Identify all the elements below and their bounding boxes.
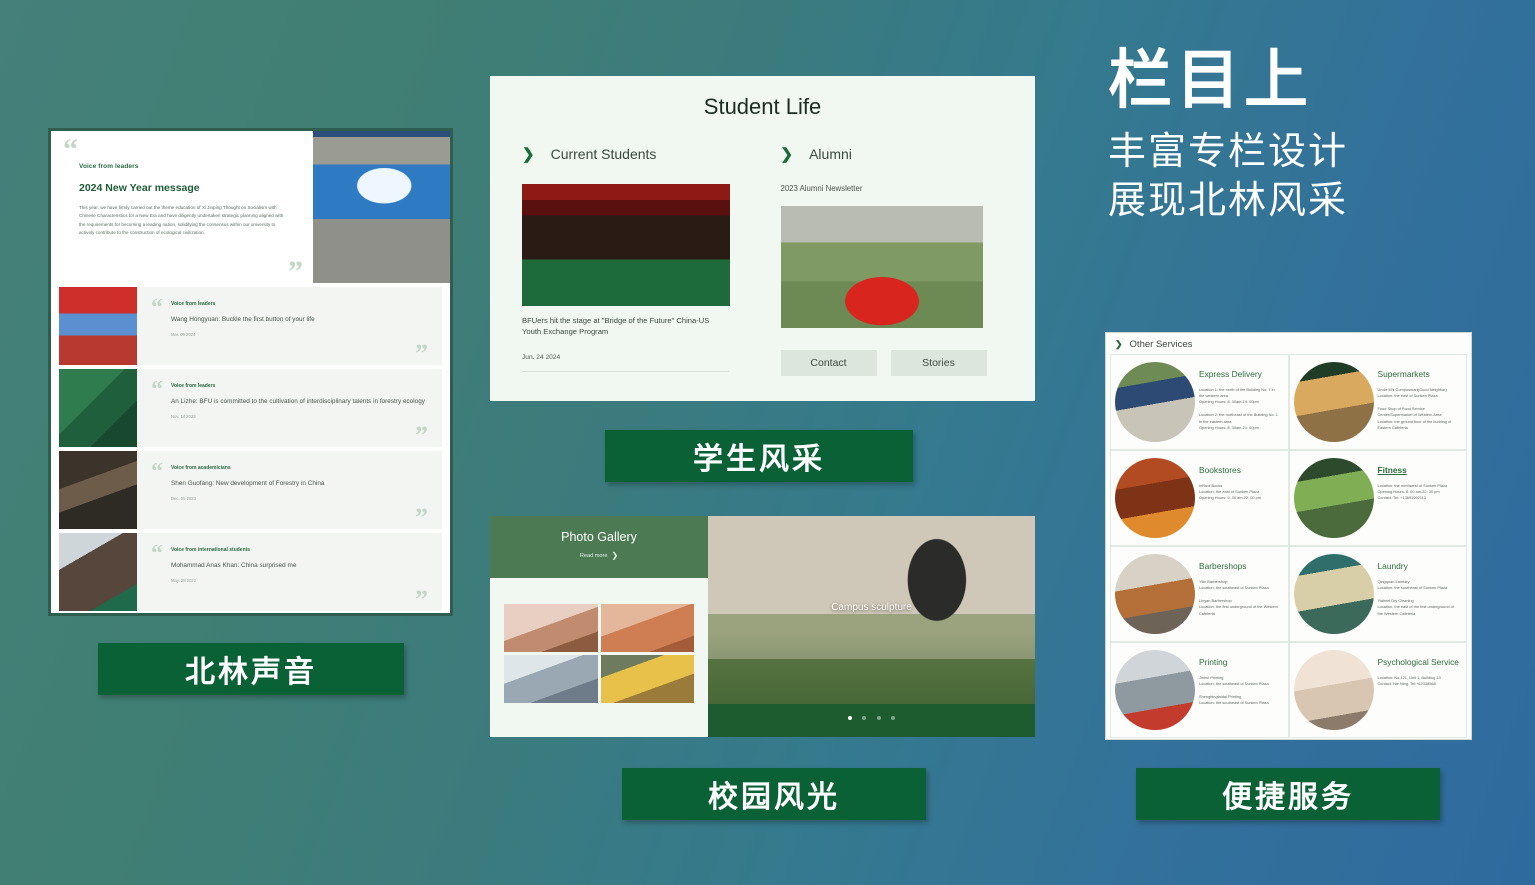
current-students-date: Jun. 24 2024 [522, 354, 745, 361]
other-services-header[interactable]: ❯ Other Services [1106, 333, 1471, 354]
service-title[interactable]: Psychological Service [1378, 657, 1460, 668]
banner-student-life: 学生风采 [605, 430, 913, 482]
quote-close-icon: ” [415, 591, 428, 609]
alumni-label: Alumni [809, 146, 852, 162]
voice-item-text: “ ” Voice from leaders Wang Hongyuan: Bu… [137, 287, 442, 365]
service-thumb [1115, 458, 1195, 538]
list-item[interactable]: “ ” Voice from academicians Shen Guofang… [59, 451, 442, 529]
headline-sub-line1: 丰富专栏设计 [1108, 127, 1528, 176]
feature-caption: Campus sculpture [708, 602, 1035, 613]
list-item[interactable]: “ ” Voice from international students Mo… [59, 533, 442, 611]
photo-gallery-title: Photo Gallery [490, 530, 708, 544]
gallery-thumb[interactable] [504, 655, 598, 703]
banner-voice-of-bfu: 北林声音 [98, 643, 404, 695]
service-title[interactable]: Printing [1199, 657, 1281, 668]
voice-item-text: “ ” Voice from international students Mo… [137, 533, 442, 611]
carousel-dot[interactable] [848, 716, 852, 720]
other-services-panel: ❯ Other Services Express Delivery Locati… [1105, 332, 1472, 740]
alumni-link[interactable]: ❯ Alumni [781, 146, 1004, 162]
divider [522, 371, 729, 372]
service-card-psychological-service[interactable]: Psychological Service Location: No.121, … [1289, 642, 1468, 738]
voice-hero-kicker: Voice from leaders [79, 163, 297, 170]
voice-item-text: “ ” Voice from leaders An Lizhe: BFU is … [137, 369, 442, 447]
service-title[interactable]: Barbershops [1199, 561, 1281, 572]
voice-hero-body: This year, we have firmly carried out th… [79, 204, 289, 238]
service-desc: Qingquan Laundry Location: the southeast… [1378, 579, 1460, 618]
headline-main: 栏目上 [1108, 48, 1528, 115]
read-more-label: Read more [580, 553, 608, 559]
poster-canvas: “ ” Voice from leaders 2024 New Year mes… [0, 0, 1535, 885]
service-title[interactable]: Supermarkets [1378, 369, 1460, 380]
read-more-link[interactable]: Read more❯ [490, 551, 708, 560]
service-thumb [1115, 650, 1195, 730]
quote-close-icon: ” [288, 263, 303, 281]
alumni-newsletter-label[interactable]: 2023 Alumni Newsletter [781, 184, 1004, 193]
quote-open-icon: “ [151, 299, 163, 317]
voice-item-date: May. 28 2022 [171, 578, 442, 583]
alumni-buttons: Contact Stories [781, 350, 1004, 376]
chevron-right-icon: ❯ [1115, 339, 1123, 350]
service-card-barbershops[interactable]: Barbershops Yilin Barbershop Location: t… [1110, 546, 1289, 642]
voice-item-title[interactable]: Wang Hongyuan: Buckle the first button o… [171, 316, 442, 323]
chevron-right-icon: ❯ [611, 551, 618, 560]
quote-open-icon: “ [151, 463, 163, 481]
carousel-dot[interactable] [891, 716, 895, 720]
photo-gallery-left: Photo Gallery Read more❯ [490, 516, 708, 737]
banner-campus-scenery: 校园风光 [622, 768, 926, 820]
gallery-thumb[interactable] [601, 604, 695, 652]
voice-item-title[interactable]: Shen Guofang: New development of Forestr… [171, 480, 442, 487]
other-services-grid: Express Delivery Location 1: the north o… [1106, 354, 1471, 738]
voice-item-date: Dec. 05 2023 [171, 496, 442, 501]
student-life-panel: Student Life ❯ Current Students BFUers h… [490, 76, 1035, 401]
list-item[interactable]: “ ” Voice from leaders An Lizhe: BFU is … [59, 369, 442, 447]
current-students-caption[interactable]: BFUers hit the stage at "Bridge of the F… [522, 315, 718, 338]
service-desc: Yilin Barbershop Location: the southeast… [1199, 579, 1281, 618]
voice-of-bfu-panel: “ ” Voice from leaders 2024 New Year mes… [48, 128, 453, 616]
voice-item-thumb [59, 451, 137, 529]
quote-open-icon: “ [151, 545, 163, 563]
stories-button[interactable]: Stories [891, 350, 987, 376]
other-services-label: Other Services [1130, 339, 1193, 350]
service-card-bookstores[interactable]: Bookstores InRoof Books Location: the ea… [1110, 450, 1289, 546]
photo-gallery-panel: Photo Gallery Read more❯ Campus sculptur… [490, 516, 1035, 737]
banner-convenient-services: 便捷服务 [1136, 768, 1440, 820]
current-students-image[interactable] [522, 184, 730, 306]
service-card-fitness[interactable]: Fitness Location: the northwest of Sunke… [1289, 450, 1468, 546]
photo-gallery-feature: Campus sculpture [708, 516, 1035, 737]
voice-item-thumb [59, 287, 137, 365]
service-desc: Jinhui Printing Location: the southeast … [1199, 675, 1281, 707]
service-card-express-delivery[interactable]: Express Delivery Location 1: the north o… [1110, 354, 1289, 450]
service-thumb [1294, 458, 1374, 538]
service-title[interactable]: Laundry [1378, 561, 1460, 572]
service-body: Printing Jinhui Printing Location: the s… [1199, 647, 1284, 733]
voice-item-kicker: Voice from academicians [171, 465, 442, 471]
photo-gallery-thumbs [490, 578, 708, 703]
service-body: Barbershops Yilin Barbershop Location: t… [1199, 551, 1284, 637]
service-thumb [1115, 362, 1195, 442]
quote-open-icon: “ [63, 141, 78, 159]
gallery-thumb[interactable] [504, 604, 598, 652]
chevron-right-icon: ❯ [522, 147, 535, 162]
quote-close-icon: ” [415, 427, 428, 445]
service-title[interactable]: Bookstores [1199, 465, 1281, 476]
carousel-dots[interactable] [708, 707, 1035, 725]
quote-close-icon: ” [415, 345, 428, 363]
student-life-columns: ❯ Current Students BFUers hit the stage … [490, 120, 1035, 376]
service-body: Supermarkets Uncle M's Compusmart(Good N… [1378, 359, 1463, 445]
current-students-column: ❯ Current Students BFUers hit the stage … [522, 146, 745, 376]
list-item[interactable]: “ ” Voice from leaders Wang Hongyuan: Bu… [59, 287, 442, 365]
service-desc: Location: the northwest of Sunken Plaza … [1378, 483, 1460, 502]
voice-item-kicker: Voice from leaders [171, 301, 442, 307]
photo-gallery-header: Photo Gallery Read more❯ [490, 516, 708, 578]
carousel-dot[interactable] [862, 716, 866, 720]
voice-hero-card[interactable]: “ ” Voice from leaders 2024 New Year mes… [51, 131, 450, 283]
voice-hero-title[interactable]: 2024 New Year message [79, 182, 297, 194]
service-desc: Location: No.121, Unit 1, Building 13 Co… [1378, 675, 1460, 688]
carousel-dot[interactable] [877, 716, 881, 720]
service-thumb [1294, 554, 1374, 634]
page-title: Student Life [490, 76, 1035, 120]
service-desc: Location 1: the north of the Building No… [1199, 387, 1281, 432]
service-title[interactable]: Express Delivery [1199, 369, 1281, 380]
chevron-right-icon: ❯ [781, 147, 794, 162]
quote-open-icon: “ [151, 381, 163, 399]
service-card-printing[interactable]: Printing Jinhui Printing Location: the s… [1110, 642, 1289, 738]
service-body: Fitness Location: the northwest of Sunke… [1378, 455, 1463, 541]
service-card-laundry[interactable]: Laundry Qingquan Laundry Location: the s… [1289, 546, 1468, 642]
service-thumb [1294, 650, 1374, 730]
service-desc: InRoof Books Location: the east of Sunke… [1199, 483, 1281, 502]
voice-item-kicker: Voice from leaders [171, 383, 442, 389]
service-body: Psychological Service Location: No.121, … [1378, 647, 1463, 733]
voice-item-thumb [59, 369, 137, 447]
service-title[interactable]: Fitness [1378, 465, 1460, 476]
voice-item-kicker: Voice from international students [171, 547, 442, 553]
voice-item-thumb [59, 533, 137, 611]
service-thumb [1115, 554, 1195, 634]
service-thumb [1294, 362, 1374, 442]
gallery-thumb[interactable] [601, 655, 695, 703]
current-students-link[interactable]: ❯ Current Students [522, 146, 745, 162]
service-desc: Uncle M's Compusmart(Good Neighbor) Loca… [1378, 387, 1460, 432]
service-body: Laundry Qingquan Laundry Location: the s… [1378, 551, 1463, 637]
contact-button[interactable]: Contact [781, 350, 877, 376]
voice-hero-text: “ ” Voice from leaders 2024 New Year mes… [51, 131, 313, 283]
voice-item-title[interactable]: Mohammad Anas Khan: China surprised me [171, 562, 442, 569]
voice-item-title[interactable]: An Lizhe: BFU is committed to the cultiv… [171, 398, 442, 405]
alumni-column: ❯ Alumni 2023 Alumni Newsletter Contact … [781, 146, 1004, 376]
service-card-supermarkets[interactable]: Supermarkets Uncle M's Compusmart(Good N… [1289, 354, 1468, 450]
headline-sub-line2: 展现北林风采 [1108, 176, 1528, 225]
voice-item-date: Nov. 14 2023 [171, 414, 442, 419]
quote-close-icon: ” [415, 509, 428, 527]
alumni-image[interactable] [781, 206, 983, 328]
voice-hero-image [313, 131, 450, 283]
service-body: Express Delivery Location 1: the north o… [1199, 359, 1284, 445]
current-students-label: Current Students [551, 146, 657, 162]
service-body: Bookstores InRoof Books Location: the ea… [1199, 455, 1284, 541]
headline-sub: 丰富专栏设计 展现北林风采 [1108, 127, 1528, 224]
voice-item-date: Mar. 09 2024 [171, 332, 442, 337]
headline-block: 栏目上 丰富专栏设计 展现北林风采 [1108, 48, 1528, 224]
voice-item-text: “ ” Voice from academicians Shen Guofang… [137, 451, 442, 529]
